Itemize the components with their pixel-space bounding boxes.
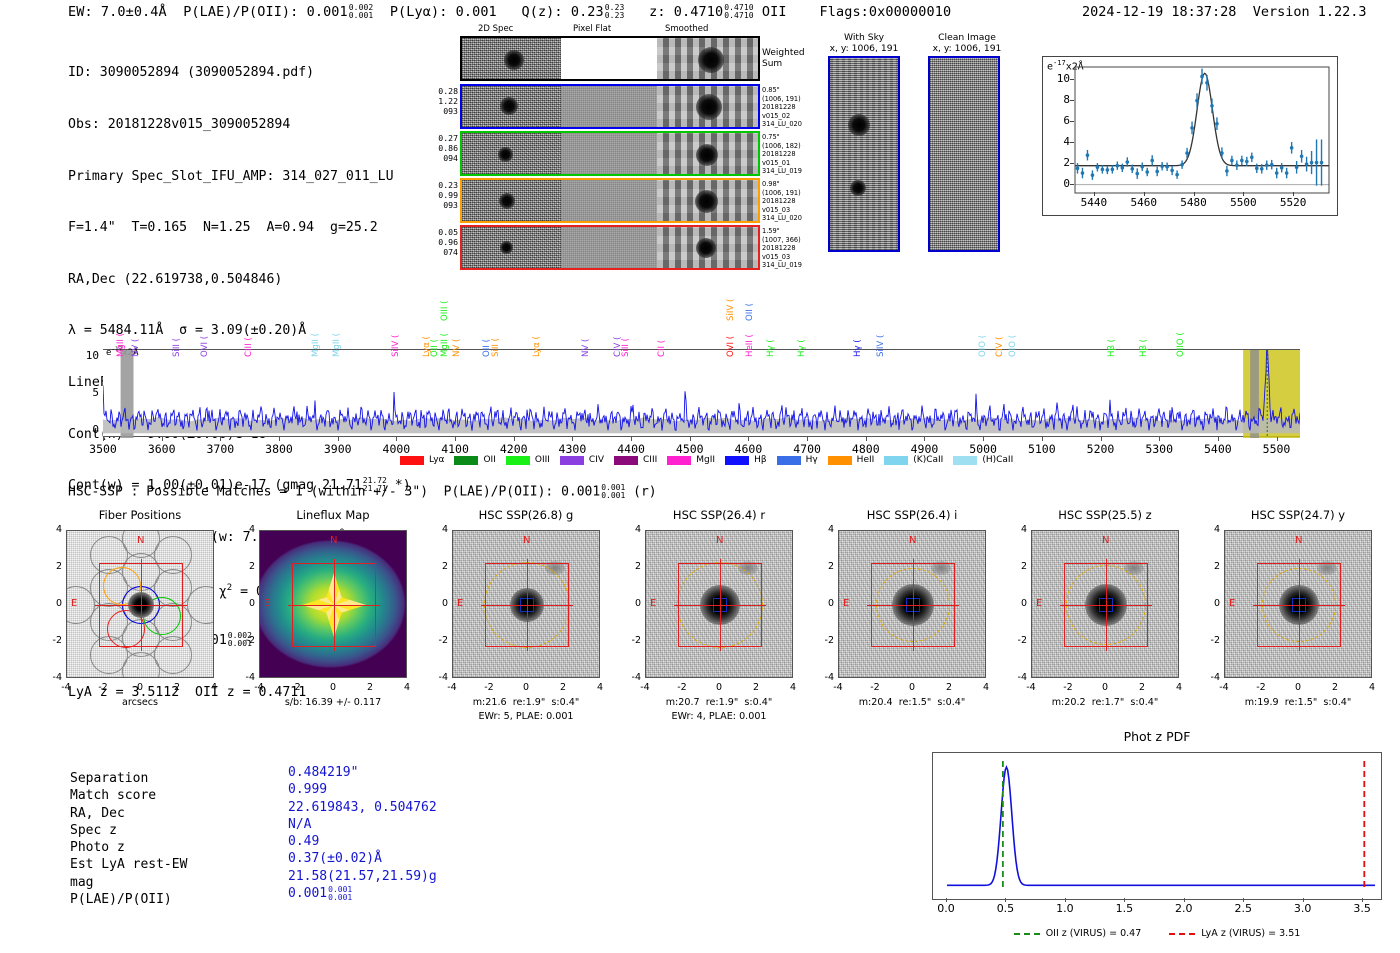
full-spectrum-xtick-mark xyxy=(1042,437,1043,441)
cutout-caption: m:21.6 re:1.9" s:0.4" xyxy=(428,697,624,709)
phot-z-xtick: 3.5 xyxy=(1342,902,1382,915)
compass-east: E xyxy=(1229,598,1235,609)
full-spectrum-xtick: 3500 xyxy=(78,442,128,456)
full-spectrum-xtick: 5100 xyxy=(1017,442,1067,456)
cutout-ytick: -2 xyxy=(42,635,62,646)
cutout-ytick: 2 xyxy=(621,561,641,572)
emission-line-label: OII ( xyxy=(745,303,755,321)
zoom-spectrum-ytick: 8 xyxy=(1050,93,1070,106)
mosaic-row-fiber-4: 0.05 0.96 074 1.59" (1007, 366) 20181228… xyxy=(460,225,760,270)
phot-z-xtick-mark xyxy=(1362,898,1363,902)
zoom-spectrum-ytick: 4 xyxy=(1050,135,1070,148)
cutout-caption: s/b: 16.39 +/- 0.117 xyxy=(235,697,431,709)
match-table-label: mag xyxy=(70,874,187,891)
compass-north: N xyxy=(1295,535,1302,546)
spectrum-legend-item: OIII xyxy=(506,455,550,465)
match-plae-errors: 0.0010.001 xyxy=(328,886,352,902)
cutout-title: HSC SSP(24.7) y xyxy=(1202,508,1394,522)
compass-east: E xyxy=(1036,598,1042,609)
header-z-errors: 0.47100.4710 xyxy=(724,4,754,20)
cutout-caption: arcsecs xyxy=(42,697,238,709)
emission-line-label: OVI ( xyxy=(726,336,736,357)
with-sky-coords: x, y: 1006, 191 xyxy=(830,43,899,54)
spectrum-legend-item: OII xyxy=(454,455,495,465)
cutout-xtick: -2 xyxy=(1056,682,1080,693)
compass-north: N xyxy=(523,535,530,546)
full-spectrum-xtick-mark xyxy=(983,437,984,441)
emission-line-label: Hγ ( xyxy=(797,339,807,357)
match-table-labels: SeparationMatch scoreRA, DecSpec zPhoto … xyxy=(70,770,187,908)
cutout-image-band[interactable]: NE xyxy=(645,530,793,678)
cutout-ytick: 4 xyxy=(621,524,641,535)
emission-line-label: MgII ( xyxy=(116,333,126,357)
full-spectrum-xtick: 5400 xyxy=(1193,442,1243,456)
mosaic-fiber-4-right: 1.59" (1007, 366) 20181228 v015_03 314_L… xyxy=(762,227,802,270)
zoom-spectrum-xtick: 5460 xyxy=(1124,196,1164,209)
cutout-ytick: -2 xyxy=(428,635,448,646)
phot-z-xtick: 2.0 xyxy=(1164,902,1204,915)
spectrum-legend-swatch xyxy=(506,456,530,465)
info-obs: Obs: 20181228v015_3090052894 xyxy=(68,116,411,133)
mosaic-fiber-4-left: 0.05 0.96 074 xyxy=(438,227,458,257)
zoom-spectrum-xtick: 5440 xyxy=(1074,196,1114,209)
full-spectrum-xtick: 3900 xyxy=(313,442,363,456)
full-spectrum-xtick-mark xyxy=(220,437,221,441)
header-qz-errors: 0.230.23 xyxy=(605,4,625,20)
header-z: z: 0.4710 xyxy=(649,4,723,20)
crosshair-vertical xyxy=(1299,559,1300,651)
match-table-label: Spec z xyxy=(70,822,187,839)
phot-z-pdf-plot xyxy=(932,752,1382,900)
phot-z-xtick-mark xyxy=(1005,898,1006,902)
compass-east: E xyxy=(264,598,270,609)
zoom-spectrum-xtick-mark xyxy=(1094,192,1095,196)
cutout-ytick: -2 xyxy=(814,635,834,646)
cutout-xtick: 4 xyxy=(781,682,805,693)
header-plya: P(Lyα): 0.001 xyxy=(390,4,497,20)
emission-line-label: SiII ( xyxy=(621,338,631,357)
zoom-spectrum-xtick-mark xyxy=(1243,192,1244,196)
full-spectrum-xtick: 4000 xyxy=(371,442,421,456)
cutout-ytick: -2 xyxy=(235,635,255,646)
full-spectrum-xtick-mark xyxy=(279,437,280,441)
match-table-label: RA, Dec xyxy=(70,805,187,822)
cutout-xtick: 4 xyxy=(202,682,226,693)
zoom-spectrum-ytick-mark xyxy=(1070,79,1074,80)
cutout-caption: m:20.4 re:1.5" s:0.4" xyxy=(814,697,1010,709)
match-table-value: 22.619843, 0.504762 xyxy=(288,799,437,816)
mosaic-fiber-2-left: 0.27 0.86 094 xyxy=(438,133,458,163)
cutout-xtick: 0 xyxy=(128,682,152,693)
full-spectrum-xtick: 4500 xyxy=(665,442,715,456)
cutout-caption: m:20.2 re:1.7" s:0.4" xyxy=(1007,697,1203,709)
cutout-xtick: 0 xyxy=(321,682,345,693)
cutout-xtick: 4 xyxy=(588,682,612,693)
cutout-image-band[interactable]: NE xyxy=(1224,530,1372,678)
mosaic-fiber-1-left: 0.28 1.22 093 xyxy=(438,86,458,116)
emission-line-label: CII ( xyxy=(657,340,667,357)
cutout-xtick: 4 xyxy=(1167,682,1191,693)
full-spectrum-legend: LyαOIIOIIICIVCIIIMgIIHβHγHeII(K)CaII(H)C… xyxy=(400,455,1023,465)
spectrum-legend-item: CIII xyxy=(614,455,657,465)
spectrum-legend-item: HeII xyxy=(828,455,875,465)
cutout-xtick: 2 xyxy=(165,682,189,693)
mosaic-title-smoothed: Smoothed xyxy=(665,24,708,34)
cutout-xtick: 2 xyxy=(1130,682,1154,693)
zoom-spectrum-ytick: 0 xyxy=(1050,177,1070,190)
full-spectrum-xtick-mark xyxy=(572,437,573,441)
emission-line-label: OII ( xyxy=(430,339,440,357)
mosaic-title-2dspec: 2D Spec xyxy=(478,24,513,34)
zoom-spectrum-ytick-mark xyxy=(1070,184,1074,185)
phot-z-xtick-mark xyxy=(1184,898,1185,902)
cutout-title: HSC SSP(25.5) z xyxy=(1009,508,1201,522)
cutout-caption-secondary: EWr: 5, PLAE: 0.001 xyxy=(428,711,624,723)
full-spectrum-xtick-mark xyxy=(103,437,104,441)
match-table-value: 0.0010.0010.001 xyxy=(288,885,437,902)
zoom-spectrum-ytick-mark xyxy=(1070,142,1074,143)
zoom-spectrum-ytick: 6 xyxy=(1050,114,1070,127)
cutout-xtick: 4 xyxy=(395,682,419,693)
phot-z-xtick-mark xyxy=(1124,898,1125,902)
cutout-xtick: -4 xyxy=(826,682,850,693)
emission-line-label: SiIV ( xyxy=(876,335,886,357)
full-spectrum-xtick: 5000 xyxy=(958,442,1008,456)
full-spectrum-plot: e-17x2Å xyxy=(103,349,1300,437)
full-spectrum-xtick-mark xyxy=(748,437,749,441)
spectrum-legend-swatch xyxy=(884,456,908,465)
with-sky-cutout xyxy=(828,56,900,252)
info-obs-params: F=1.4" T=0.165 N=1.25 A=0.94 g=25.2 xyxy=(68,219,411,236)
cutout-xtick: 2 xyxy=(744,682,768,693)
hsc-ssp-header: HSC-SSP : Possible Matches = 1 (within +… xyxy=(68,484,657,500)
cutout-xtick: -4 xyxy=(247,682,271,693)
zoom-spectrum-ytick-mark xyxy=(1070,121,1074,122)
full-spectrum-xtick: 5200 xyxy=(1076,442,1126,456)
info-spec-slot: Primary Spec_Slot_IFU_AMP: 314_027_011_L… xyxy=(68,168,411,185)
full-spectrum-xtick: 4100 xyxy=(430,442,480,456)
mosaic-fiber-3-left: 0.23 0.99 093 xyxy=(438,180,458,210)
header-timestamp: 2024-12-19 18:37:28 xyxy=(1082,4,1236,20)
spectrum-legend-swatch xyxy=(667,456,691,465)
emission-line-label: SiII ( xyxy=(491,338,501,357)
header-z-line: OII xyxy=(762,4,787,20)
phot-z-xtick: 0.5 xyxy=(985,902,1025,915)
emission-line-label: OIII ( xyxy=(440,301,450,321)
mosaic-fiber-3-right: 0.98" (1006, 191) 20181228 v015_03 314_L… xyxy=(762,180,802,223)
cutout-ytick: 4 xyxy=(42,524,62,535)
full-spectrum-svg xyxy=(103,350,1300,438)
emission-line-label: Hγ ( xyxy=(766,339,776,357)
full-spectrum-xtick: 4200 xyxy=(489,442,539,456)
compass-north: N xyxy=(1102,535,1109,546)
match-table-value: 0.49 xyxy=(288,833,437,850)
emission-line-label: CIV ( xyxy=(995,337,1005,358)
emission-line-label: SiII ( xyxy=(172,338,182,357)
cutout-ytick: 0 xyxy=(42,598,62,609)
zoom-spectrum-xtick-mark xyxy=(1144,192,1145,196)
full-spectrum-ytick: 0 xyxy=(79,423,99,436)
cutout-image-fibers[interactable]: NE xyxy=(66,530,214,678)
cutout-ytick: 4 xyxy=(814,524,834,535)
full-spectrum-xtick: 4400 xyxy=(606,442,656,456)
cutout-ytick: 4 xyxy=(428,524,448,535)
cutout-xtick: -2 xyxy=(284,682,308,693)
header-ew: EW: 7.0±0.4Å xyxy=(68,4,167,20)
cutout-caption-secondary: EWr: 4, PLAE: 0.001 xyxy=(621,711,817,723)
cutout-ytick: -2 xyxy=(621,635,641,646)
phot-z-legend-item: LyA z (VIRUS) = 3.51 xyxy=(1169,928,1300,939)
cutout-xtick: -2 xyxy=(863,682,887,693)
cutout-xtick: -4 xyxy=(1019,682,1043,693)
emission-line-label: OIO ( xyxy=(978,335,988,357)
zoom-spectrum-ytick-mark xyxy=(1070,100,1074,101)
crosshair-vertical xyxy=(334,559,335,651)
compass-north: N xyxy=(909,535,916,546)
with-sky-title: With Skyx, y: 1006, 191 xyxy=(816,32,912,54)
spectrum-legend-label: Lyα xyxy=(429,455,444,465)
full-spectrum-xtick-mark xyxy=(1218,437,1219,441)
cutout-image-band[interactable]: NE xyxy=(1031,530,1179,678)
cutout-ytick: 4 xyxy=(1200,524,1220,535)
emission-line-label: MgII ( xyxy=(311,333,321,357)
cutout-ytick: 2 xyxy=(42,561,62,572)
full-spectrum-xtick-mark xyxy=(807,437,808,441)
spectrum-legend-label: CIII xyxy=(643,455,657,465)
spectrum-legend-item: Lyα xyxy=(400,455,444,465)
match-table-label: Photo z xyxy=(70,839,187,856)
cutout-title: HSC SSP(26.4) i xyxy=(816,508,1008,522)
cutout-ytick: 2 xyxy=(1007,561,1027,572)
full-spectrum-xtick-mark xyxy=(162,437,163,441)
emission-line-label: HeII ( xyxy=(745,334,755,357)
cutout-xtick: -2 xyxy=(1249,682,1273,693)
full-spectrum-xtick: 3700 xyxy=(195,442,245,456)
header-flags: Flags:0x00000010 xyxy=(820,4,952,20)
cutout-image-lineflux[interactable]: NE xyxy=(259,530,407,678)
phot-z-xtick: 3.0 xyxy=(1283,902,1323,915)
phot-z-legend-swatch xyxy=(1014,933,1040,935)
match-table-values: 0.484219"0.99922.619843, 0.504762N/A0.49… xyxy=(288,764,437,902)
spectrum-legend-swatch xyxy=(725,456,749,465)
cutout-image-band[interactable]: NE xyxy=(838,530,986,678)
cutout-xtick: -2 xyxy=(670,682,694,693)
emission-line-label: Hγ ( xyxy=(853,339,863,357)
emission-line-label: NV ( xyxy=(131,339,141,357)
header-plae-errors: 0.0020.001 xyxy=(349,4,374,20)
mosaic-fiber-1-right: 0.85" (1006, 191) 20181228 v015_02 314_L… xyxy=(762,86,802,129)
full-spectrum-xtick: 4800 xyxy=(841,442,891,456)
spectrum-legend-item: (H)CaII xyxy=(953,455,1013,465)
cutout-ytick: 4 xyxy=(235,524,255,535)
cutout-ytick: 2 xyxy=(428,561,448,572)
mosaic-row-weighted-sum: Weighted Sum xyxy=(460,36,760,81)
full-spectrum-ytick: 10 xyxy=(79,349,99,362)
cutout-xtick: -4 xyxy=(440,682,464,693)
zoom-spectrum-xtick: 5480 xyxy=(1174,196,1214,209)
full-spectrum-xtick-mark xyxy=(866,437,867,441)
crosshair-vertical xyxy=(720,559,721,651)
phot-z-legend-label: OII z (VIRUS) = 0.47 xyxy=(1046,928,1142,939)
spec2d-mosaic: 2D Spec Pixel Flat Smoothed Weighted Sum… xyxy=(460,36,760,272)
spectrum-legend-label: CIV xyxy=(589,455,604,465)
cutout-title: HSC SSP(26.4) r xyxy=(623,508,815,522)
match-table-value: 0.37(±0.02)Å xyxy=(288,850,437,867)
spectrum-legend-swatch xyxy=(777,456,801,465)
cutout-ytick: 4 xyxy=(1007,524,1027,535)
cutout-title: Lineflux Map xyxy=(237,508,429,522)
header-plae: P(LAE)/P(OII): 0.001 xyxy=(183,4,348,20)
info-id: ID: 3090052894 (3090052894.pdf) xyxy=(68,64,411,81)
phot-z-legend-item: OII z (VIRUS) = 0.47 xyxy=(1014,928,1142,939)
cutout-xtick: 0 xyxy=(514,682,538,693)
full-spectrum-ytick: 5 xyxy=(79,386,99,399)
match-table-value: 0.999 xyxy=(288,781,437,798)
cutout-xtick: -2 xyxy=(91,682,115,693)
full-spectrum-xtick-mark xyxy=(514,437,515,441)
cutout-xtick: 0 xyxy=(1093,682,1117,693)
cutout-ytick: 2 xyxy=(814,561,834,572)
cutout-xtick: 2 xyxy=(358,682,382,693)
full-spectrum-xtick-mark xyxy=(1101,437,1102,441)
spectrum-legend-label: OII xyxy=(483,455,495,465)
compass-north: N xyxy=(137,535,144,546)
phot-z-pdf-legend: OII z (VIRUS) = 0.47LyA z (VIRUS) = 3.51 xyxy=(932,928,1382,939)
spectrum-legend-item: Hγ xyxy=(777,455,818,465)
full-spectrum-xtick: 4700 xyxy=(782,442,832,456)
emission-line-label: SiIV ( xyxy=(726,299,736,321)
cutout-ytick: 0 xyxy=(814,598,834,609)
cutout-xtick: -4 xyxy=(633,682,657,693)
emission-line-label: OIO ( xyxy=(1008,335,1018,357)
cutout-xtick: -2 xyxy=(477,682,501,693)
emission-line-label: OIIO ( xyxy=(1176,332,1186,357)
cutout-caption: m:19.9 re:1.5" s:0.4" xyxy=(1200,697,1396,709)
spectrum-legend-label: (H)CaII xyxy=(982,455,1013,465)
header-version: Version 1.22.3 xyxy=(1253,4,1367,20)
cutout-ytick: 0 xyxy=(428,598,448,609)
cutout-xtick: 0 xyxy=(900,682,924,693)
full-spectrum-xtick: 5500 xyxy=(1252,442,1302,456)
match-table-value: 0.484219" xyxy=(288,764,437,781)
cutout-ytick: 0 xyxy=(621,598,641,609)
cutout-ytick: 0 xyxy=(1200,598,1220,609)
full-spectrum-xtick: 4300 xyxy=(547,442,597,456)
cutout-xtick: -4 xyxy=(54,682,78,693)
cutout-ytick: 0 xyxy=(1007,598,1027,609)
cutout-ytick: 2 xyxy=(1200,561,1220,572)
phot-z-legend-label: LyA z (VIRUS) = 3.51 xyxy=(1201,928,1300,939)
compass-east: E xyxy=(650,598,656,609)
compass-north: N xyxy=(330,535,337,546)
match-table-label: Separation xyxy=(70,770,187,787)
full-spectrum-xtick-mark xyxy=(924,437,925,441)
compass-east: E xyxy=(71,598,77,609)
cutout-xtick: 2 xyxy=(937,682,961,693)
cutout-title: HSC SSP(26.8) g xyxy=(430,508,622,522)
header-qz: Q(z): 0.23 xyxy=(521,4,603,20)
zoom-spectrum-ytick-mark xyxy=(1070,163,1074,164)
emission-line-label: NV ( xyxy=(581,339,591,357)
clean-image-title: Clean Imagex, y: 1006, 191 xyxy=(912,32,1022,54)
mosaic-row-fiber-2: 0.27 0.86 094 0.75" (1006, 182) 20181228… xyxy=(460,131,760,176)
spectrum-legend-item: MgII xyxy=(667,455,715,465)
mosaic-row-fiber-1: 0.28 1.22 093 0.85" (1006, 191) 20181228… xyxy=(460,84,760,129)
cutout-ytick: 2 xyxy=(235,561,255,572)
cutout-xtick: 4 xyxy=(1360,682,1384,693)
crosshair-vertical xyxy=(1106,559,1107,651)
full-spectrum-xtick-mark xyxy=(338,437,339,441)
emission-line-label: Hβ ( xyxy=(1107,339,1117,357)
header-summary-line: EW: 7.0±0.4Å P(LAE)/P(OII): 0.0010.0020.… xyxy=(68,4,951,20)
cutout-ytick: -2 xyxy=(1007,635,1027,646)
full-spectrum-xtick-mark xyxy=(396,437,397,441)
mosaic-title-pixelflat: Pixel Flat xyxy=(573,24,611,34)
compass-east: E xyxy=(843,598,849,609)
match-table-value: N/A xyxy=(288,816,437,833)
header-meta: 2024-12-19 18:37:28 Version 1.22.3 xyxy=(1082,4,1367,20)
cutout-xtick: -4 xyxy=(1212,682,1236,693)
phot-z-xtick-mark xyxy=(946,898,947,902)
cutout-xtick: 2 xyxy=(551,682,575,693)
crosshair-vertical xyxy=(913,559,914,651)
match-table-value: 21.58(21.57,21.59)g xyxy=(288,868,437,885)
phot-z-xtick-mark xyxy=(1303,898,1304,902)
spectrum-legend-item: CIV xyxy=(560,455,604,465)
spectrum-legend-swatch xyxy=(953,456,977,465)
info-radec: RA,Dec (22.619738,0.504846) xyxy=(68,271,411,288)
phot-z-pdf-svg xyxy=(933,753,1381,899)
zoom-spectrum-xtick: 5520 xyxy=(1273,196,1313,209)
zoom-spectrum-ytick: 2 xyxy=(1050,156,1070,169)
spectrum-legend-item: (K)CaII xyxy=(884,455,943,465)
zoom-spectrum-xtick-mark xyxy=(1293,192,1294,196)
spectrum-legend-swatch xyxy=(560,456,584,465)
hsc-plae-errors: 0.0010.001 xyxy=(601,484,625,500)
phot-z-xtick-mark xyxy=(1243,898,1244,902)
full-spectrum-xtick: 5300 xyxy=(1134,442,1184,456)
mosaic-fiber-2-right: 0.75" (1006, 182) 20181228 v015_01 314_L… xyxy=(762,133,802,176)
cutout-ytick: 0 xyxy=(235,598,255,609)
cutout-xtick: 0 xyxy=(707,682,731,693)
cutout-image-band[interactable]: NE xyxy=(452,530,600,678)
spectrum-legend-label: (K)CaII xyxy=(913,455,943,465)
full-spectrum-xtick: 3800 xyxy=(254,442,304,456)
compass-east: E xyxy=(457,598,463,609)
full-spectrum-xtick-mark xyxy=(1277,437,1278,441)
cutout-xtick: 0 xyxy=(1286,682,1310,693)
spectrum-legend-label: MgII xyxy=(696,455,715,465)
emission-line-label: OVI ( xyxy=(200,336,210,357)
clean-image-coords: x, y: 1006, 191 xyxy=(933,43,1002,54)
spectrum-legend-label: Hγ xyxy=(806,455,818,465)
clean-image-cutout xyxy=(928,56,1000,252)
full-spectrum-xtick-mark xyxy=(631,437,632,441)
spectrum-legend-item: Hβ xyxy=(725,455,767,465)
full-spectrum-xtick-mark xyxy=(690,437,691,441)
emission-line-label: Lyα ( xyxy=(532,336,542,357)
phot-z-xtick: 1.0 xyxy=(1045,902,1085,915)
spectrum-legend-swatch xyxy=(614,456,638,465)
phot-z-xtick: 2.5 xyxy=(1223,902,1263,915)
spectrum-legend-swatch xyxy=(400,456,424,465)
crosshair-vertical xyxy=(527,559,528,651)
spectrum-legend-swatch xyxy=(828,456,852,465)
spectrum-legend-swatch xyxy=(454,456,478,465)
match-table-label: Match score xyxy=(70,787,187,804)
cutout-xtick: 2 xyxy=(1323,682,1347,693)
zoom-spectrum-xtick: 5500 xyxy=(1223,196,1263,209)
